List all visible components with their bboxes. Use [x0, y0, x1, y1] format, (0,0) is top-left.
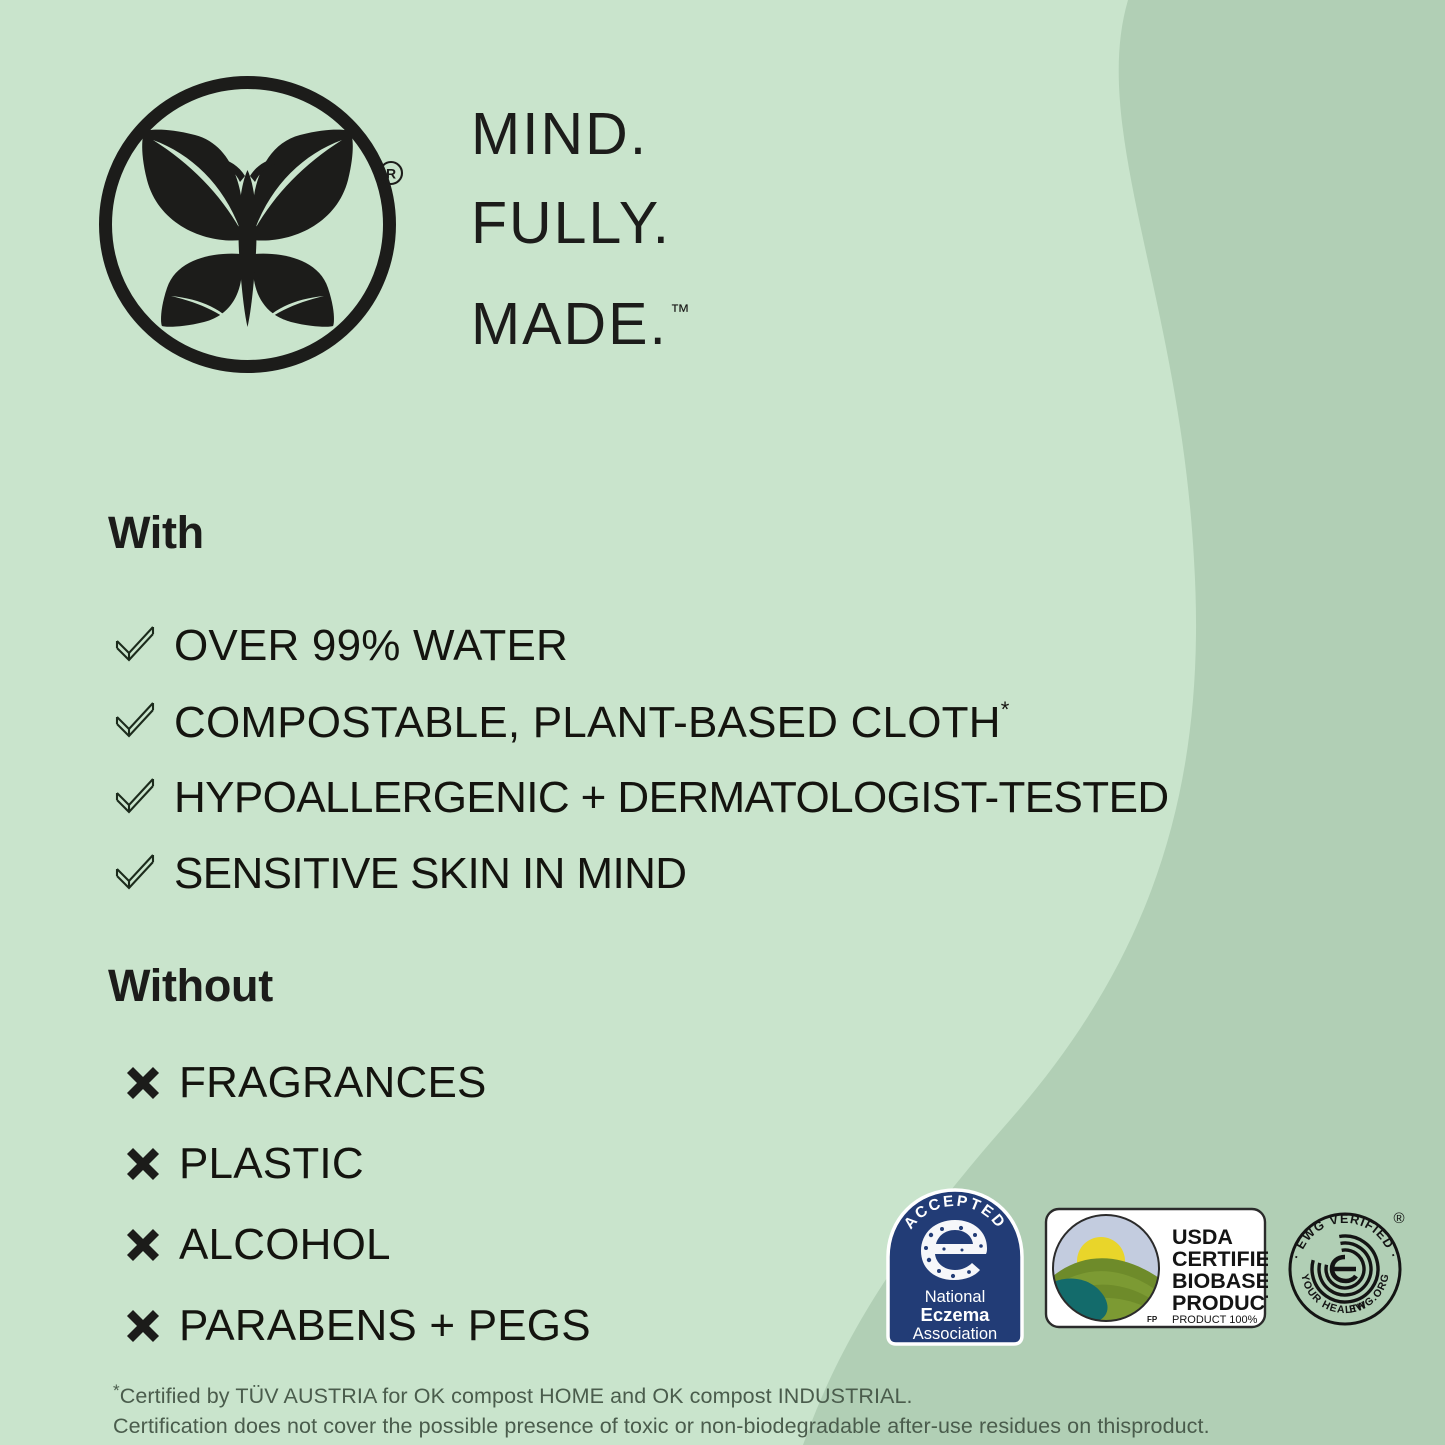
- without-section-heading: Without: [108, 960, 273, 1012]
- list-item: FRAGRANCES: [126, 1042, 1026, 1123]
- list-item-label: SENSITIVE SKIN IN MIND: [174, 852, 686, 896]
- list-item-label: PARABENS + PEGS: [179, 1304, 591, 1348]
- footnote-marker: *: [1001, 697, 1010, 722]
- badge-corner-label: FP: [1147, 1315, 1158, 1324]
- ewg-verified-badge: · EWG VERIFIED · FOR YOUR HEALTH · EWG.O…: [1286, 1203, 1412, 1329]
- with-claims-list: OVER 99% WATER COMPOSTABLE, PLANT-BASED …: [112, 608, 1312, 912]
- footnote-star: *: [113, 1381, 120, 1400]
- registered-trademark-icon: R: [378, 160, 404, 186]
- list-item: COMPOSTABLE, PLANT-BASED CLOTH*: [112, 684, 1312, 760]
- list-item-label: FRAGRANCES: [179, 1061, 487, 1105]
- badge-line-3: BIOBASED: [1172, 1269, 1268, 1293]
- check-outline-icon: [112, 776, 157, 821]
- usda-certified-biobased-product-badge: USDA CERTIFIED BIOBASED PRODUCT PRODUCT …: [1043, 1206, 1268, 1330]
- list-item-label: OVER 99% WATER: [174, 624, 568, 668]
- x-mark-icon: [126, 1066, 160, 1100]
- with-section-heading: With: [108, 507, 204, 559]
- product-claims-panel: R MIND. FULLY. MADE.™ With OVER 99% WATE…: [0, 0, 1445, 1445]
- badge-line-1: USDA: [1172, 1225, 1233, 1249]
- footnote: *Certified by TÜV AUSTRIA for OK compost…: [113, 1376, 1363, 1441]
- certification-badges: ACCEPTED National: [876, 1188, 1416, 1348]
- list-item-label: PLASTIC: [179, 1142, 364, 1186]
- wordmark-line-3: MADE.™: [471, 268, 791, 369]
- x-mark-icon: [126, 1309, 160, 1343]
- wordmark-line-2: FULLY.: [471, 179, 791, 268]
- national-eczema-association-badge: ACCEPTED National: [876, 1188, 1034, 1348]
- list-item: SENSITIVE SKIN IN MIND: [112, 836, 1312, 912]
- check-outline-icon: [112, 700, 157, 745]
- badge-line-2: CERTIFIED: [1172, 1247, 1268, 1271]
- footnote-line-2: Certification does not cover the possibl…: [113, 1411, 1363, 1441]
- wordmark-line-1: MIND.: [471, 90, 791, 179]
- wordmark: MIND. FULLY. MADE.™: [471, 90, 791, 369]
- list-item-label: ALCOHOL: [179, 1223, 391, 1267]
- brand-lockup: R MIND. FULLY. MADE.™: [95, 72, 795, 402]
- butterfly-in-circle-logo: [95, 72, 400, 377]
- badge-line-3: Association: [913, 1325, 997, 1343]
- badge-sub-label: PRODUCT 100%: [1172, 1314, 1258, 1326]
- list-item: OVER 99% WATER: [112, 608, 1312, 684]
- trademark-symbol: ™: [670, 301, 691, 323]
- badge-line-4: PRODUCT: [1172, 1291, 1268, 1315]
- x-mark-icon: [126, 1228, 160, 1262]
- svg-text:R: R: [386, 166, 396, 182]
- check-outline-icon: [112, 852, 157, 897]
- registered-trademark-icon: ®: [1393, 1210, 1404, 1227]
- list-item: HYPOALLERGENIC + DERMATOLOGIST-TESTED: [112, 760, 1312, 836]
- list-item-label: HYPOALLERGENIC + DERMATOLOGIST-TESTED: [174, 776, 1169, 820]
- list-item-label: COMPOSTABLE, PLANT-BASED CLOTH*: [174, 699, 1009, 745]
- x-mark-icon: [126, 1147, 160, 1181]
- badge-line-2: Eczema: [921, 1304, 991, 1325]
- check-outline-icon: [112, 624, 157, 669]
- footnote-line-1: *Certified by TÜV AUSTRIA for OK compost…: [113, 1376, 1363, 1411]
